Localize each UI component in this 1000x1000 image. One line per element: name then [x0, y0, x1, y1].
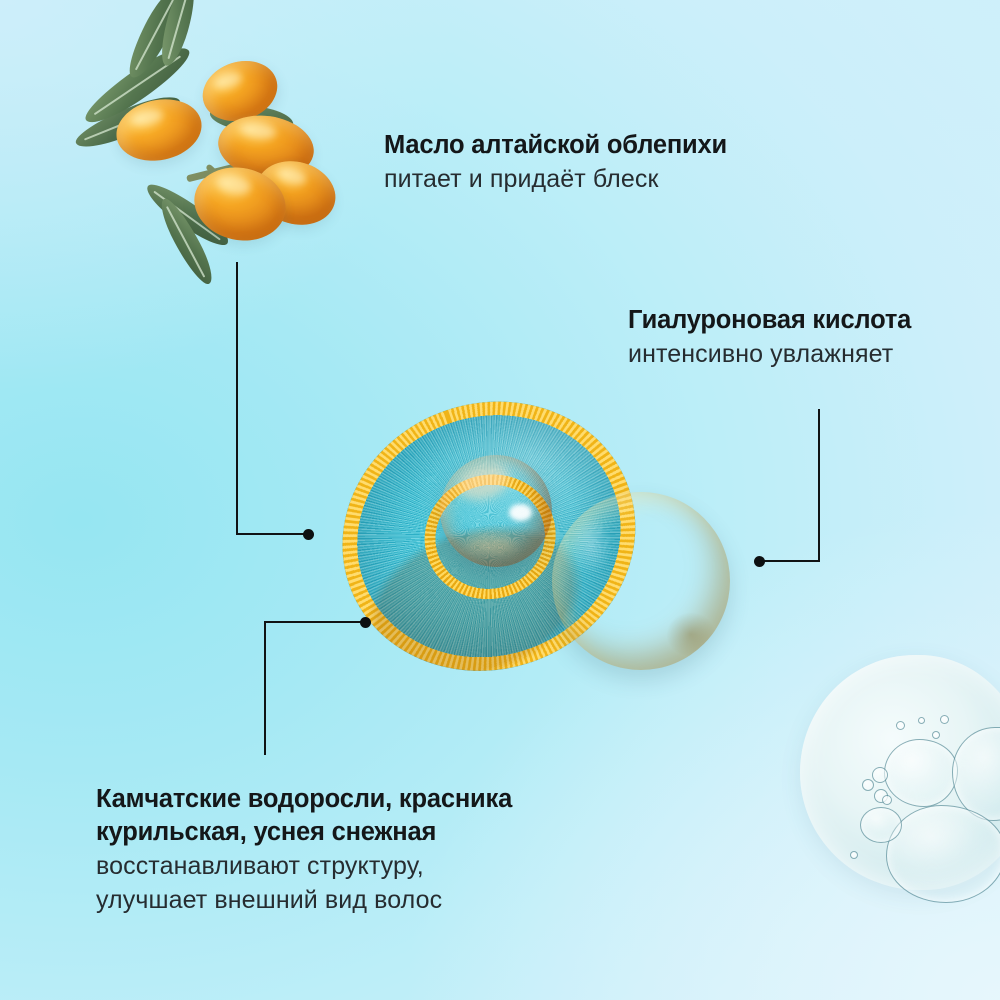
connector-segment-horizontal: [264, 621, 364, 623]
callout-title-line1: Камчатские водоросли, красника: [96, 783, 512, 816]
core-highlight: [454, 458, 513, 506]
gel-bubble: [850, 851, 858, 859]
sea-buckthorn-cluster-image: [60, 40, 360, 305]
connector-endpoint-dot: [303, 529, 314, 540]
gel-bubble: [886, 805, 1000, 903]
callout-subtitle: питает и придаёт блеск: [384, 162, 727, 196]
connector-segment-vertical: [264, 621, 266, 755]
connector-segment-vertical: [818, 409, 820, 562]
callout-title: Гиалуроновая кислота: [628, 303, 911, 337]
callout-algae: Камчатские водоросли, красника курильска…: [96, 783, 512, 917]
connector-endpoint-dot: [360, 617, 371, 628]
gel-bubble: [932, 731, 940, 739]
callout-title-line2: курильская, уснея снежная: [96, 816, 512, 849]
yellow-textured-sphere: [552, 492, 730, 670]
callout-subtitle-line2: улучшает внешний вид волос: [96, 883, 512, 917]
connector-segment-horizontal: [760, 560, 820, 562]
hyaluronic-gel-drop: [800, 655, 1000, 915]
core-specular-highlight: [509, 504, 531, 521]
gel-bubble: [862, 779, 874, 791]
core-bounce-light: [465, 536, 517, 554]
connector-segment-horizontal: [236, 533, 308, 535]
callout-sea-buckthorn: Масло алтайской облепихи питает и придаё…: [384, 128, 727, 196]
orange-core-sphere: [440, 455, 552, 567]
gel-bubble: [884, 739, 958, 807]
gel-bubble: [896, 721, 905, 730]
gel-bubble: [940, 715, 949, 724]
connector-segment-vertical: [236, 262, 238, 535]
callout-subtitle-line1: восстанавливают структуру,: [96, 849, 512, 883]
callout-subtitle: интенсивно увлажняет: [628, 337, 911, 371]
gel-bubble: [872, 767, 888, 783]
gel-bubble: [918, 717, 925, 724]
infographic-canvas: Масло алтайской облепихи питает и придаё…: [0, 0, 1000, 1000]
gel-bubble: [882, 795, 892, 805]
connector-endpoint-dot: [754, 556, 765, 567]
sphere-shading: [552, 492, 730, 670]
callout-title: Масло алтайской облепихи: [384, 128, 727, 162]
gel-bubble: [860, 807, 902, 843]
callout-hyaluronic-acid: Гиалуроновая кислота интенсивно увлажняе…: [628, 303, 911, 371]
